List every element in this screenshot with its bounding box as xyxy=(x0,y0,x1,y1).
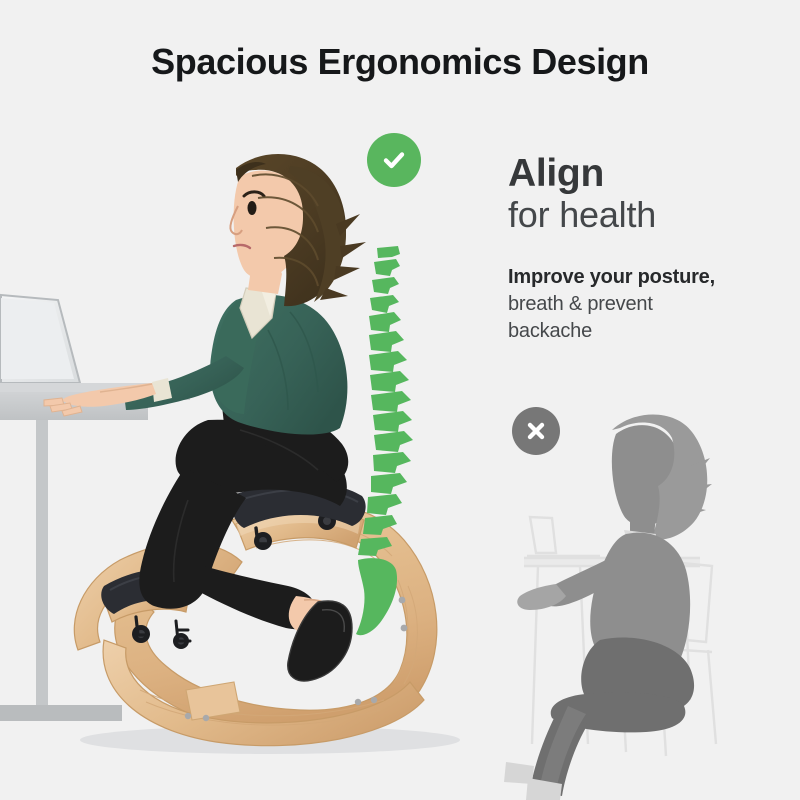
cross-badge xyxy=(512,407,560,455)
check-icon xyxy=(379,145,409,175)
body-text-line-1: breath & prevent xyxy=(508,291,778,318)
slouching-figure xyxy=(504,414,712,800)
check-badge xyxy=(367,133,421,187)
copy-block: Align for health Improve your posture, b… xyxy=(508,152,778,345)
lead-text: Improve your posture, xyxy=(508,264,778,291)
headline-for-health: for health xyxy=(508,194,778,236)
bad-posture-illustration xyxy=(0,0,800,800)
poster-canvas: Spacious Ergonomics Design Align for hea… xyxy=(0,0,800,800)
close-icon xyxy=(523,418,549,444)
page-title: Spacious Ergonomics Design xyxy=(0,40,800,84)
body-text-line-2: backache xyxy=(508,318,778,345)
headline-align: Align xyxy=(508,152,778,196)
